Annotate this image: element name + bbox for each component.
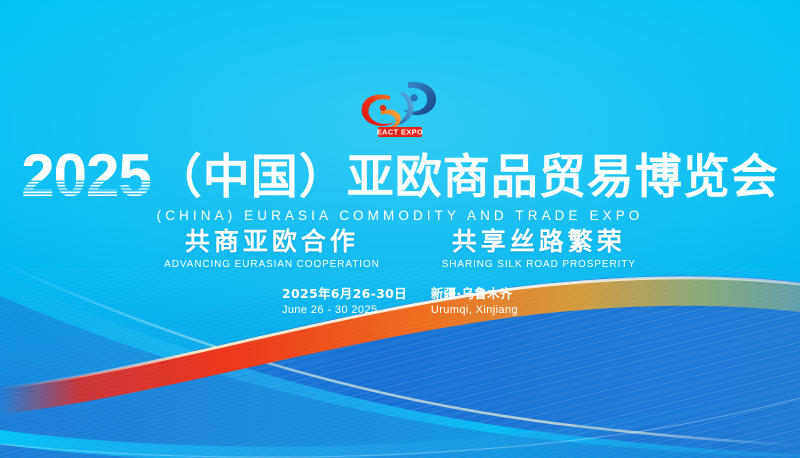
headline-block: 20252025 （中国）亚欧商品贸易博览会 (CHINA) EURASIA C… [0,148,800,223]
headline-year-overlay: 2025 [21,148,152,203]
slogan-2-en: SHARING SILK ROAD PROSPERITY [442,259,636,270]
eact-expo-logo-icon: EACT EXPO [350,78,450,140]
place-cn: 新疆·乌鲁木齐 [431,286,518,302]
date-column: 2025年6月26-30日 June 26 - 30 2025 [282,286,407,317]
logo-container: EACT EXPO [0,78,800,140]
slogan-item-1: 共商亚欧合作 ADVANCING EURASIAN COOPERATION [164,228,380,270]
slogan-1-en: ADVANCING EURASIAN COOPERATION [164,259,380,270]
slogan-1-cn: 共商亚欧合作 [164,228,380,256]
place-en: Urumqi, Xinjiang [431,303,518,317]
headline-year: 20252025 [21,148,152,203]
date-place-block: 2025年6月26-30日 June 26 - 30 2025 新疆·乌鲁木齐 … [0,286,800,317]
headline-en-title: (CHINA) EURASIA COMMODITY AND TRADE EXPO [0,209,800,223]
logo-caption: EACT EXPO [377,128,423,137]
expo-banner: EACT EXPO 20252025 （中国）亚欧商品贸易博览会 (CHINA)… [0,0,800,458]
place-column: 新疆·乌鲁木齐 Urumqi, Xinjiang [431,286,518,317]
slogan-item-2: 共享丝路繁荣 SHARING SILK ROAD PROSPERITY [442,228,636,270]
headline-cn-title: （中国）亚欧商品贸易博览会 [155,154,779,201]
slogan-2-cn: 共享丝路繁荣 [442,228,636,256]
headline-row: 20252025 （中国）亚欧商品贸易博览会 [0,148,800,203]
slogan-block: 共商亚欧合作 ADVANCING EURASIAN COOPERATION 共享… [0,228,800,270]
date-en: June 26 - 30 2025 [282,303,407,317]
date-cn: 2025年6月26-30日 [282,286,407,302]
